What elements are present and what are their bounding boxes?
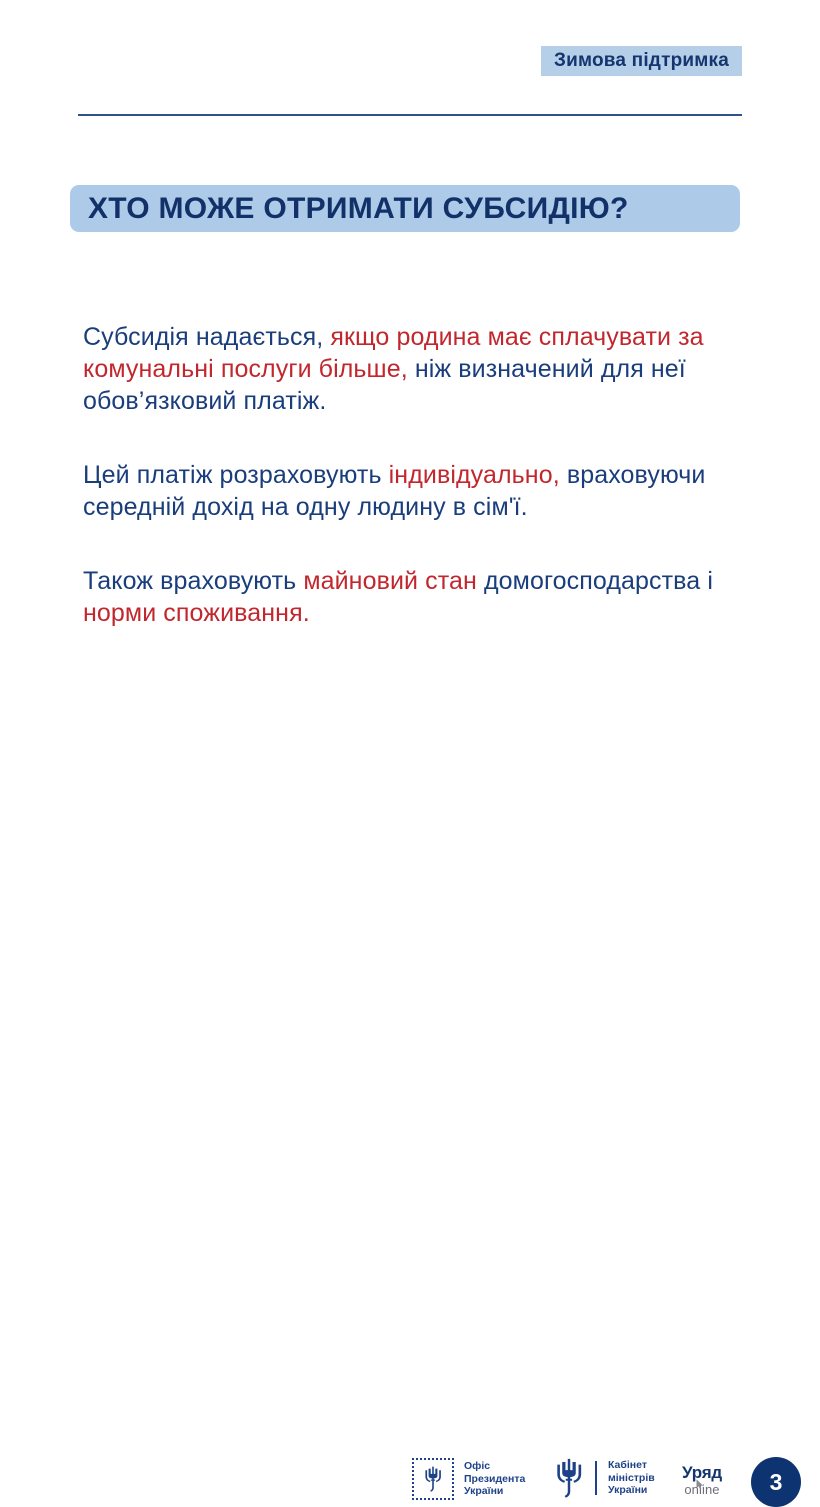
page-title-band: ХТО МОЖЕ ОТРИМАТИ СУБСИДІЮ? [70,185,740,232]
header-divider [78,114,742,116]
logo-cabinet-of-ministers-text: Кабінет міністрів України [608,1459,655,1497]
paragraph-3: Також враховують майновий стан домогоспо… [83,565,763,629]
winter-support-badge: Зимова підтримка [541,46,742,76]
footer: Офіс Президента України Кабінет міністрі… [0,725,820,795]
paragraph-2-segment-2: індивідуально, [389,461,560,489]
trident-icon [412,1458,454,1500]
paragraph-2-segment-1: Цей платіж розраховують [83,461,389,489]
paragraph-3-segment-3: домогосподарства і [477,567,713,595]
cursor-icon [696,1479,705,1490]
page-title: ХТО МОЖЕ ОТРИМАТИ СУБСИДІЮ? [88,192,629,226]
cm-line-3: України [608,1484,655,1497]
body-content: Субсидія надається, якщо родина має спла… [83,296,763,654]
paragraph-1: Субсидія надається, якщо родина має спла… [83,321,763,417]
paragraph-3-segment-4: норми споживання. [83,599,310,627]
paragraph-2: Цей платіж розраховують індивідуально, в… [83,459,763,523]
op-line-2: Президента [464,1473,525,1486]
op-line-1: Офіс [464,1460,525,1473]
cm-line-1: Кабінет [608,1459,655,1472]
logo-office-of-president: Офіс Президента України [412,1458,525,1500]
paragraph-1-segment-1: Субсидія надається, [83,323,330,351]
logo-office-of-president-text: Офіс Президента України [464,1460,525,1498]
op-line-3: України [464,1485,525,1498]
trident-icon [552,1458,586,1498]
paragraph-3-segment-1: Також враховують [83,567,303,595]
logo-uryad-online: Уряд online [682,1464,722,1497]
logo-cabinet-of-ministers: Кабінет міністрів України [552,1458,655,1498]
cm-line-2: міністрів [608,1472,655,1485]
page-number-badge: 3 [751,1457,801,1507]
logo-divider [595,1461,597,1495]
paragraph-3-segment-2: майновий стан [303,567,477,595]
